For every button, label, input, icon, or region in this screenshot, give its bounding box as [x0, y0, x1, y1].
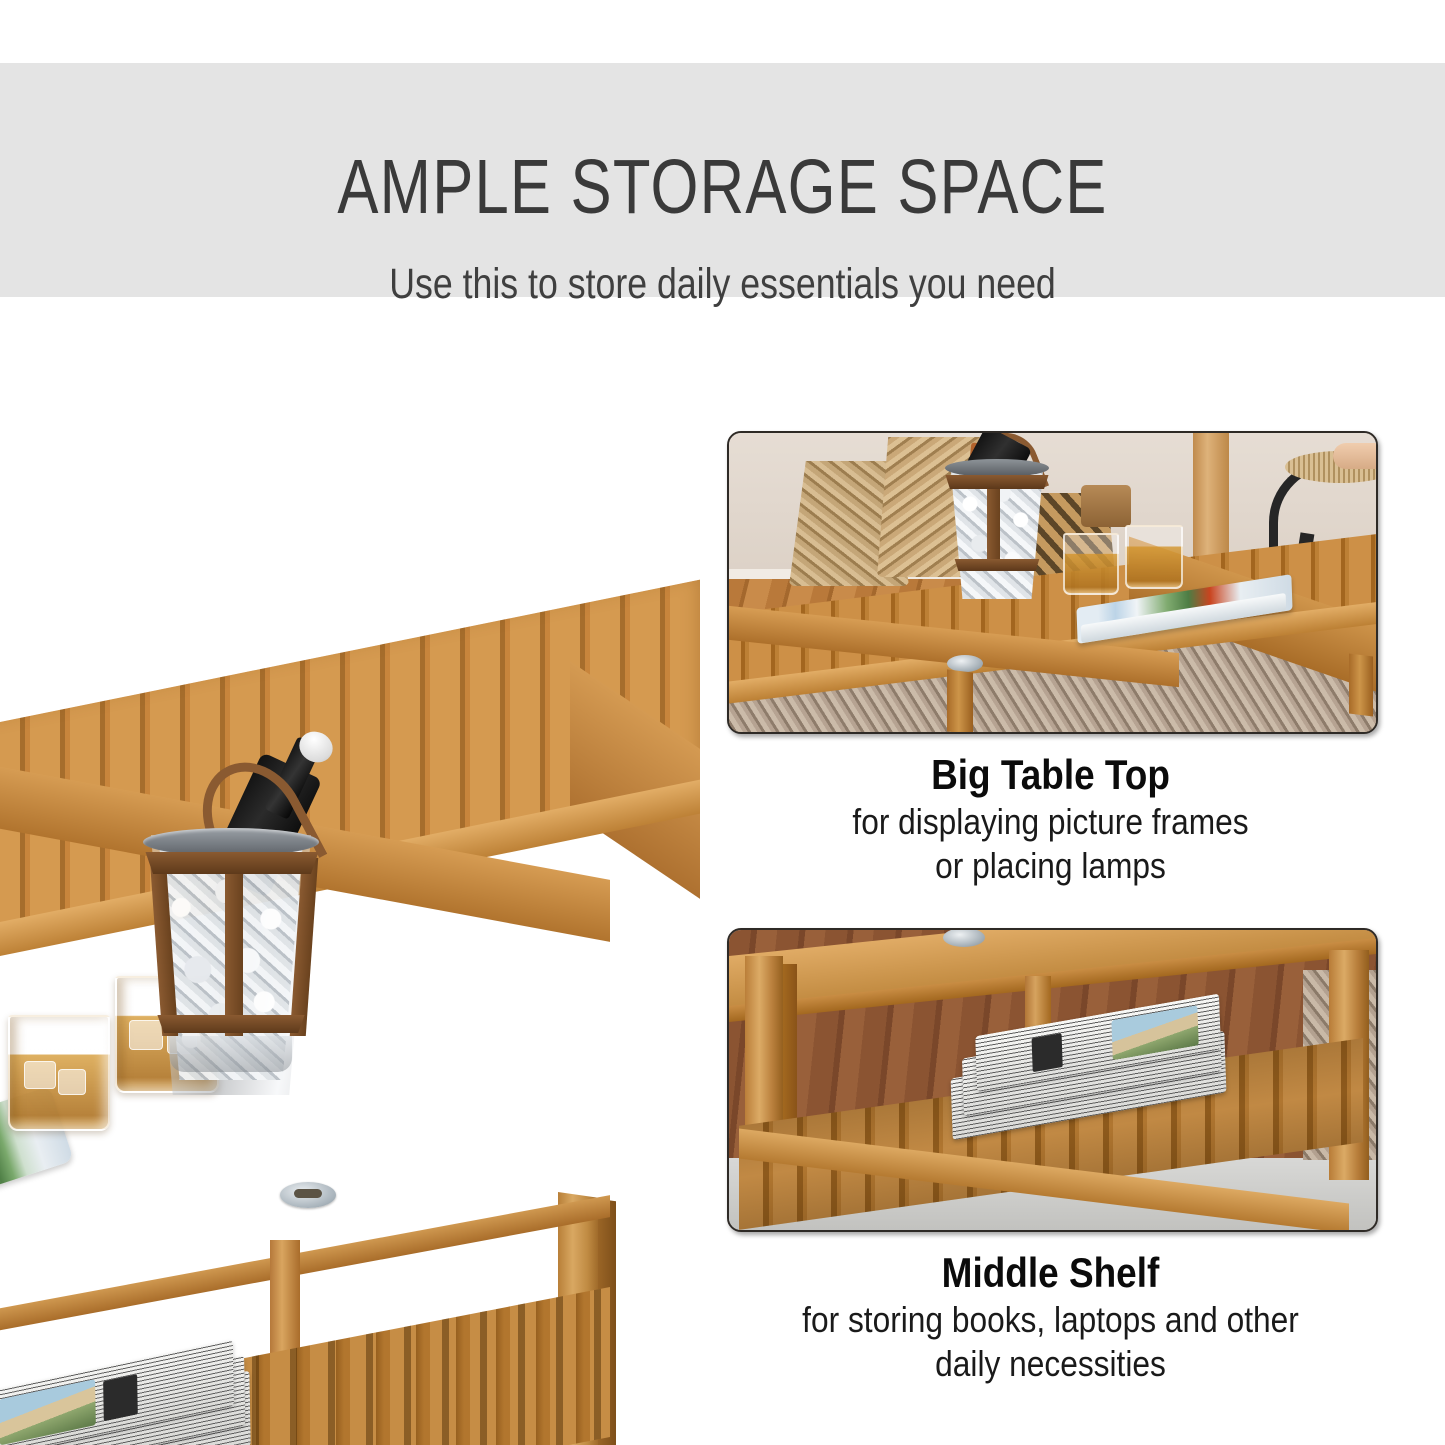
bucket-stave: [987, 479, 1000, 571]
header-banner: AMPLE STORAGE SPACE Use this to store da…: [0, 63, 1445, 297]
whiskey-glass: [8, 1015, 110, 1131]
newspaper-photo: [0, 1379, 96, 1445]
caption-line-1: for storing books, laptops and other: [766, 1298, 1335, 1342]
bucket-hoop: [951, 559, 1043, 571]
folded-newspaper-stack: [0, 1326, 271, 1445]
caption-line-2: daily necessities: [766, 1342, 1335, 1386]
bucket-metal-rim: [945, 459, 1049, 477]
newspaper-ink-block: [1032, 1033, 1063, 1072]
page-subtitle: Use this to store daily essentials you n…: [123, 260, 1322, 308]
screw-icon: [294, 1189, 322, 1198]
page-title: AMPLE STORAGE SPACE: [145, 149, 1301, 226]
ice-cube: [24, 1061, 56, 1089]
armrest: [1333, 443, 1378, 469]
bucket-hoop: [138, 852, 326, 874]
caption-middle-shelf: Middle Shelf for storing books, laptops …: [727, 1248, 1374, 1386]
ice-cube: [58, 1069, 86, 1095]
table-leg: [1349, 654, 1373, 717]
caption-title: Big Table Top: [766, 750, 1335, 800]
feature-image-big-table-top: [727, 431, 1378, 734]
newspaper-photo: [1111, 1005, 1198, 1060]
main-product-photo: [0, 360, 730, 1445]
newspaper-ink-block: [103, 1374, 138, 1421]
table-leg: [947, 669, 973, 734]
bucket-metal-rim: [143, 828, 319, 856]
bucket-base: [170, 1036, 292, 1072]
bucket-stave: [225, 858, 243, 1036]
wooden-jar: [1081, 485, 1131, 527]
caption-title: Middle Shelf: [766, 1248, 1335, 1298]
bucket-hoop: [151, 1015, 311, 1033]
ice-cube: [129, 1020, 163, 1050]
metal-hardware-plate: [943, 928, 985, 947]
whiskey-glass: [1125, 525, 1183, 589]
whiskey-glass: [1063, 533, 1119, 595]
bucket-hoop: [941, 475, 1053, 489]
caption-line-2: or placing lamps: [766, 844, 1335, 888]
caption-big-table-top: Big Table Top for displaying picture fra…: [727, 750, 1374, 888]
feature-image-middle-shelf: [727, 928, 1378, 1232]
caption-line-1: for displaying picture frames: [766, 800, 1335, 844]
